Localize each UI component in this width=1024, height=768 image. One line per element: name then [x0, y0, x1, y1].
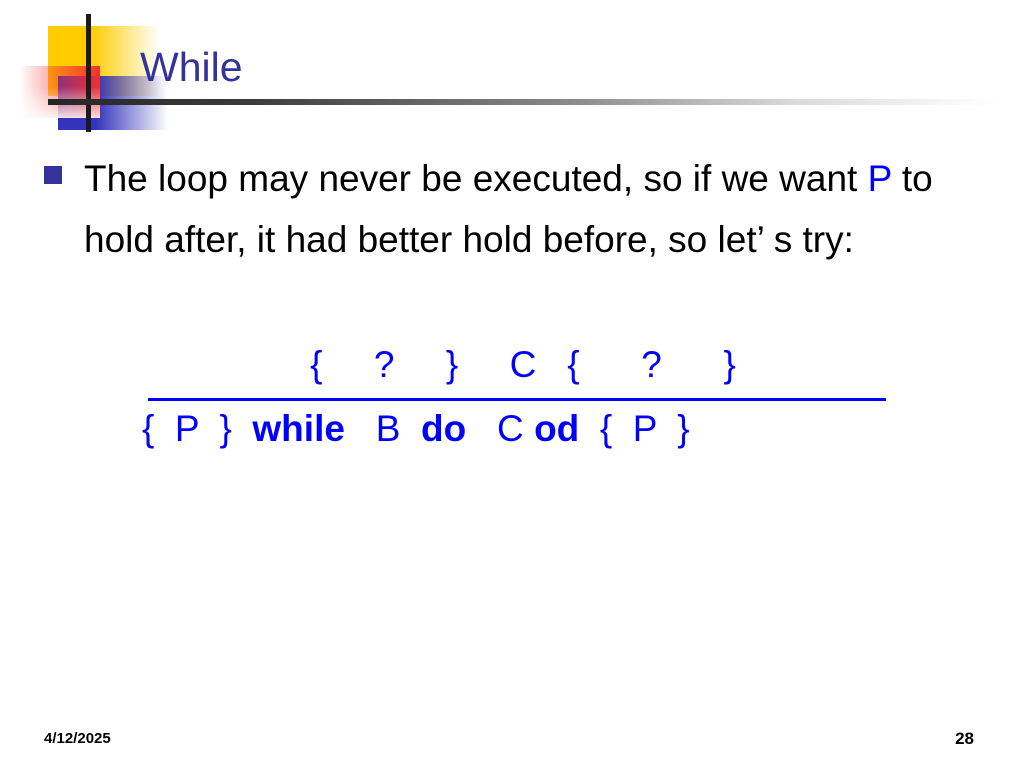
- footer-page-number: 28: [955, 729, 974, 749]
- red-square-shape: [16, 66, 100, 118]
- list-item-text: The loop may never be executed, so if we…: [84, 148, 964, 270]
- denominator-segment-4: C: [466, 408, 534, 449]
- page-title: While: [140, 47, 243, 88]
- inference-rule-numerator: { ? } C { ? }: [0, 342, 1024, 388]
- denominator-segment-0: { P }: [142, 408, 252, 449]
- denominator-segment-2: B: [345, 408, 421, 449]
- denominator-keyword-od: od: [534, 408, 579, 449]
- slide-canvas: While The loop may never be executed, so…: [0, 0, 1024, 768]
- denominator-keyword-do: do: [421, 408, 466, 449]
- list-item: The loop may never be executed, so if we…: [44, 148, 984, 270]
- red-square-fade-overlay: [16, 66, 100, 118]
- denominator-keyword-while: while: [252, 408, 345, 449]
- footer-date: 4/12/2025: [44, 730, 111, 747]
- horizontal-divider-line: [48, 99, 998, 105]
- bullet-text-highlight-p: P: [868, 158, 892, 199]
- inference-rule-divider-line: [148, 398, 886, 401]
- inference-rule-denominator: { P } while B do C od { P }: [0, 405, 1024, 453]
- vertical-bar-shape: [86, 14, 91, 132]
- inference-rule: { ? } C { ? } { P } while B do C od { P …: [0, 342, 1024, 453]
- body-content: The loop may never be executed, so if we…: [44, 148, 984, 270]
- denominator-segment-6: { P }: [579, 408, 689, 449]
- square-bullet-icon: [44, 166, 62, 184]
- bullet-text-part-1: The loop may never be executed, so if we…: [84, 158, 868, 199]
